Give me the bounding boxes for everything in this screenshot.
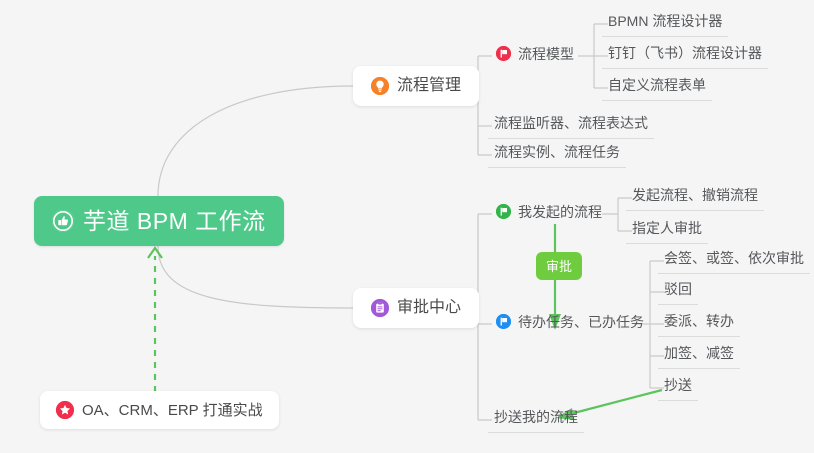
branch-label: 审批中心: [397, 300, 461, 316]
node-carbon-copy[interactable]: 抄送: [658, 375, 698, 401]
root-node[interactable]: 芋道 BPM 工作流: [34, 196, 284, 246]
node-label: 发起流程、撤销流程: [632, 188, 758, 202]
arrow-callout-head: [148, 248, 162, 258]
node-start-cancel-process[interactable]: 发起流程、撤销流程: [626, 185, 764, 211]
node-label: BPMN 流程设计器: [608, 14, 722, 28]
branch-approval-center[interactable]: 审批中心: [353, 288, 479, 328]
node-label: 抄送我的流程: [494, 410, 578, 424]
node-process-listener-expression[interactable]: 流程监听器、流程表达式: [488, 113, 654, 139]
node-process-instance-task[interactable]: 流程实例、流程任务: [488, 142, 626, 168]
node-label: 驳回: [664, 282, 692, 296]
node-cc-to-me-process[interactable]: 抄送我的流程: [488, 407, 584, 433]
node-my-started-process[interactable]: 我发起的流程: [490, 201, 608, 227]
approval-tag[interactable]: 审批: [536, 252, 582, 280]
node-label: 钉钉（飞书）流程设计器: [608, 46, 762, 60]
node-todo-done-tasks[interactable]: 待办任务、已办任务: [490, 311, 650, 337]
node-countersign-or-sequential[interactable]: 会签、或签、依次审批: [658, 248, 810, 274]
root-label: 芋道 BPM 工作流: [83, 210, 266, 233]
node-label: 抄送: [664, 378, 692, 392]
flag-icon: [496, 314, 511, 329]
thumbs-up-icon: [52, 210, 74, 232]
node-process-model[interactable]: 流程模型: [490, 43, 580, 69]
approval-tag-label: 审批: [546, 260, 572, 273]
link-root-to-process-management: [158, 86, 353, 196]
node-label: 我发起的流程: [518, 205, 602, 219]
node-bpmn-designer[interactable]: BPMN 流程设计器: [602, 11, 728, 37]
clipboard-icon: [371, 299, 389, 317]
node-delegate-transfer[interactable]: 委派、转办: [658, 311, 740, 337]
mindmap-canvas: 芋道 BPM 工作流 流程管理 流程模型 BPMN 流程设计器 钉钉（飞书）流程: [0, 0, 814, 453]
node-label: 待办任务、已办任务: [518, 315, 644, 329]
link-root-to-approval-center: [158, 246, 353, 308]
branch-label: 流程管理: [397, 78, 461, 94]
node-custom-process-form[interactable]: 自定义流程表单: [602, 75, 712, 101]
integration-callout-label: OA、CRM、ERP 打通实战: [82, 403, 263, 418]
node-label: 加签、减签: [664, 346, 734, 360]
node-dingtalk-feishu-designer[interactable]: 钉钉（飞书）流程设计器: [602, 43, 768, 69]
node-label: 流程实例、流程任务: [494, 145, 620, 159]
lightbulb-icon: [371, 77, 389, 95]
node-label: 流程监听器、流程表达式: [494, 116, 648, 130]
branch-process-management[interactable]: 流程管理: [353, 66, 479, 106]
flag-icon: [496, 46, 511, 61]
flag-icon: [496, 204, 511, 219]
node-reject[interactable]: 驳回: [658, 279, 698, 305]
integration-callout[interactable]: OA、CRM、ERP 打通实战: [40, 391, 279, 429]
star-icon: [56, 401, 74, 419]
node-label: 自定义流程表单: [608, 78, 706, 92]
node-label: 指定人审批: [632, 221, 702, 235]
node-label: 流程模型: [518, 47, 574, 61]
node-assignee-approval[interactable]: 指定人审批: [626, 218, 708, 244]
node-label: 会签、或签、依次审批: [664, 251, 804, 265]
node-add-remove-sign[interactable]: 加签、减签: [658, 343, 740, 369]
node-label: 委派、转办: [664, 314, 734, 328]
